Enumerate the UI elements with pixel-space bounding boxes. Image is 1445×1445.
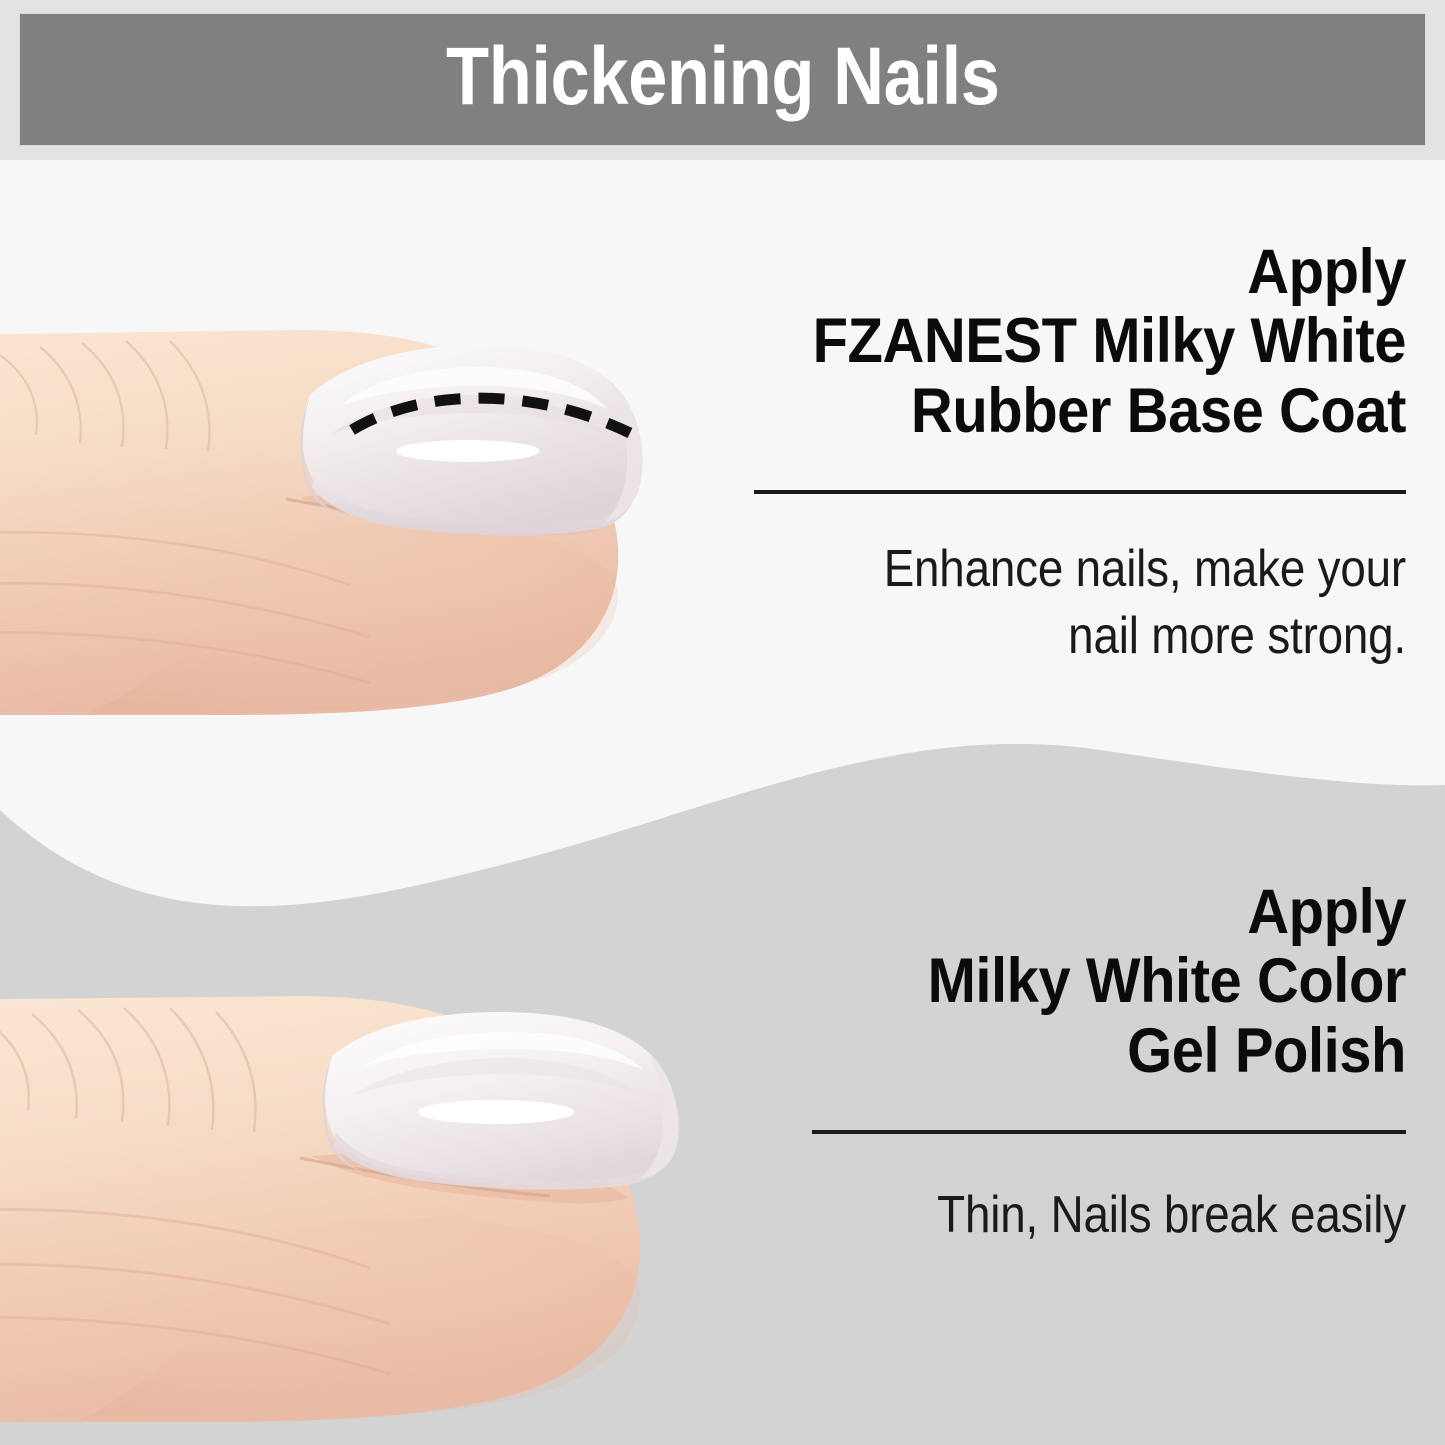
header-region: Thickening Nails [0, 0, 1445, 160]
section-divider [754, 490, 1406, 494]
headline-line-1: Apply [756, 878, 1406, 947]
description-line-2: nail more strong. [785, 603, 1406, 671]
section-divider [812, 1130, 1406, 1134]
nail-specular-highlight [418, 1100, 574, 1124]
thin-nail [323, 1012, 679, 1190]
headline-line-2: Milky White Color [756, 947, 1406, 1016]
headline-line-2: FZANEST Milky White [756, 307, 1406, 376]
headline-line-3: Gel Polish [756, 1017, 1406, 1086]
content-region: Apply FZANEST Milky White Rubber Base Co… [0, 160, 1445, 1445]
finger-illustration-thin [0, 960, 700, 1430]
thick-nail-image [0, 285, 690, 715]
finger-illustration-thick [0, 285, 690, 715]
page-title: Thickening Nails [446, 36, 1000, 124]
description-line-1: Thin, Nails break easily [785, 1182, 1406, 1250]
section-thick-nail-text: Apply FZANEST Milky White Rubber Base Co… [700, 238, 1406, 671]
headline-line-1: Apply [756, 238, 1406, 307]
description-line-1: Enhance nails, make your [785, 536, 1406, 604]
nail-specular-highlight [396, 440, 540, 462]
thick-nail [301, 345, 643, 536]
thin-nail-image [0, 960, 700, 1430]
infographic-page: Thickening Nails [0, 0, 1445, 1445]
headline-line-3: Rubber Base Coat [756, 377, 1406, 446]
section-thin-nail-text: Apply Milky White Color Gel Polish Thin,… [700, 878, 1406, 1249]
header-bar: Thickening Nails [20, 14, 1425, 145]
